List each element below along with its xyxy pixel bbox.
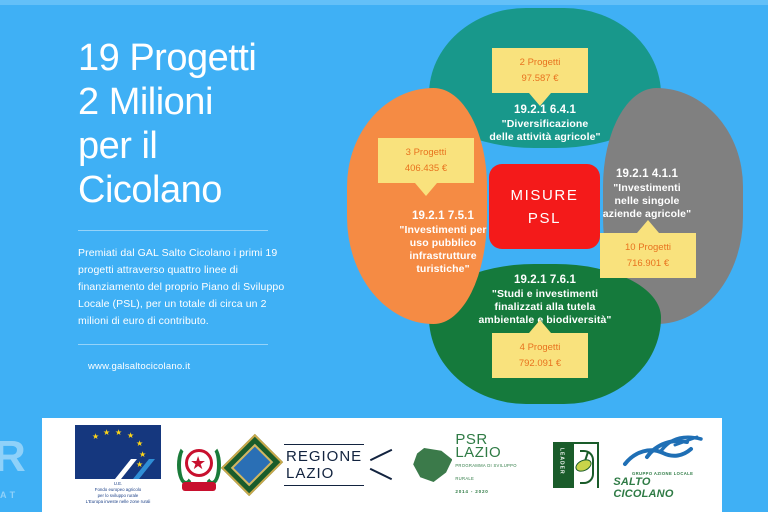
leader-logo: LEADER: [553, 442, 599, 488]
eu-logo: ★ ★ ★ ★ ★ ★ ★ U.E. Fondo europeo agricol…: [66, 425, 170, 505]
italy-emblem-icon: ★: [176, 439, 222, 491]
leader-icon: LEADER: [553, 442, 599, 488]
divider-bottom: [78, 344, 268, 345]
psr-lazio-logo: PSR LAZIO PROGRAMMA DI SVILUPPO RURALE 2…: [413, 433, 535, 498]
regione-lazio-wordmark: REGIONE LAZIO: [284, 444, 364, 486]
lazio-crest-icon: [221, 434, 283, 496]
regione-chevron-icon: [369, 445, 395, 485]
diagram-center-misure-psl: MISURE PSL: [489, 164, 600, 249]
eu-logo-caption: U.E. Fondo europeo agricolo per lo svilu…: [66, 481, 170, 505]
top-accent-strip: [0, 0, 768, 5]
badge-bottom-amount: 792.091 €: [502, 356, 578, 372]
badge-right-projects: 10 Progetti: [625, 242, 671, 253]
leader-wordmark: LEADER: [558, 448, 564, 475]
lazio-map-icon: [413, 448, 452, 482]
badge-right-amount: 716.901 €: [610, 256, 686, 272]
badge-bottom: 4 Progetti 792.091 €: [492, 333, 588, 378]
center-line-1: MISURE: [511, 184, 579, 207]
badge-left-projects: 3 Progetti: [406, 147, 447, 158]
regione-lazio-logo: REGIONE LAZIO: [284, 444, 395, 486]
watermark: R LA T: [0, 437, 25, 512]
eu-wave-graphic: [75, 457, 161, 479]
badge-left-amount: 406.435 €: [388, 161, 464, 177]
psr-wordmark: PSR LAZIO PROGRAMMA DI SVILUPPO RURALE 2…: [455, 433, 535, 498]
gal-salto-cicolano-logo: GRUPPO AZIONE LOCALE SALTO CICOLANO: [613, 431, 712, 500]
petal-left-title: "Investimenti per uso pubblico infrastru…: [399, 224, 486, 275]
regione-line-1: REGIONE: [286, 448, 362, 465]
intro-panel: 19 Progetti 2 Milioni per il Cicolano Pr…: [78, 36, 293, 372]
gal-name: SALTO CICOLANO: [613, 476, 712, 500]
badge-right: 10 Progetti 716.901 €: [600, 233, 696, 278]
measures-flower-diagram: 19.2.1 6.4.1 "Diversificazione delle att…: [352, 18, 738, 394]
badge-top: 2 Progetti 97.587 €: [492, 48, 588, 93]
page-title: 19 Progetti 2 Milioni per il Cicolano: [78, 36, 293, 212]
sponsor-logo-bar: ★ ★ ★ ★ ★ ★ ★ U.E. Fondo europeo agricol…: [42, 418, 722, 512]
eu-flag-icon: ★ ★ ★ ★ ★ ★ ★: [75, 425, 161, 479]
petal-top-title: "Diversificazione delle attività agricol…: [489, 118, 600, 143]
badge-top-projects: 2 Progetti: [520, 57, 561, 68]
website-link[interactable]: www.galsaltocicolano.it: [78, 361, 293, 372]
badge-top-amount: 97.587 €: [502, 71, 578, 87]
petal-top-label: 19.2.1 6.4.1 "Diversificazione delle att…: [470, 104, 620, 144]
watermark-mark: R: [0, 432, 25, 481]
divider-top: [78, 230, 268, 231]
center-line-2: PSL: [528, 207, 561, 230]
psr-years: 2014 - 2020: [455, 485, 535, 498]
psr-line-2: LAZIO: [455, 446, 535, 459]
badge-bottom-projects: 4 Progetti: [520, 342, 561, 353]
italy-emblem-logo: ★: [176, 439, 222, 491]
lazio-crest-logo: [232, 441, 272, 489]
petal-right-label: 19.2.1 4.1.1 "Investimenti nelle singole…: [582, 168, 712, 221]
gal-swirl-icon: [617, 431, 709, 471]
psr-subtitle: PROGRAMMA DI SVILUPPO RURALE: [455, 459, 535, 485]
regione-line-2: LAZIO: [286, 465, 362, 482]
petal-right-title: "Investimenti nelle singole aziende agri…: [603, 182, 691, 220]
badge-left: 3 Progetti 406.435 €: [378, 138, 474, 183]
petal-right-code: 19.2.1 4.1.1: [582, 168, 712, 181]
intro-paragraph: Premiati dal GAL Salto Cicolano i primi …: [78, 245, 293, 330]
